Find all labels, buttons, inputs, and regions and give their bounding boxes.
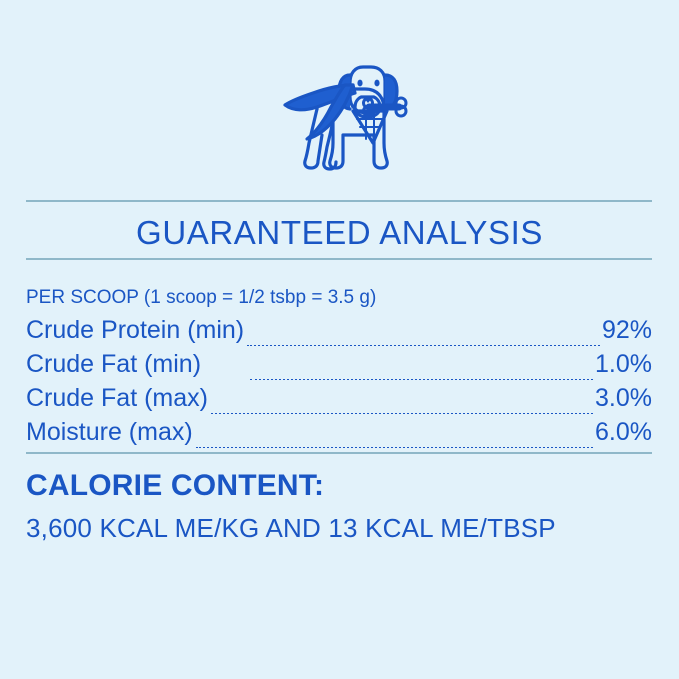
- dotted-leader: [250, 379, 593, 380]
- nutrient-row: Crude Fat (max) 3.0%: [26, 384, 652, 418]
- nutrient-name: Crude Protein (min): [26, 316, 244, 345]
- dotted-leader: [211, 413, 593, 414]
- dotted-leader: [247, 345, 600, 346]
- caped-dog-with-bone-icon: [265, 39, 415, 187]
- nutrient-value: 6.0%: [595, 418, 652, 447]
- nutrient-name: Crude Fat (max): [26, 384, 208, 413]
- nutrient-name: Crude Fat (min): [26, 350, 201, 379]
- nutrient-value: 3.0%: [595, 384, 652, 413]
- pet-food-label-panel: GUARANTEED ANALYSIS PER SCOOP (1 scoop =…: [0, 0, 679, 679]
- calorie-content-heading: CALORIE CONTENT:: [26, 467, 324, 505]
- nutrient-value: 1.0%: [595, 350, 652, 379]
- divider-above-calorie-content: [26, 452, 652, 454]
- nutrient-row: Moisture (max) 6.0%: [26, 418, 652, 452]
- guaranteed-analysis-list: Crude Protein (min) 92% Crude Fat (min) …: [26, 316, 652, 452]
- divider-above-title: [26, 200, 652, 202]
- nutrient-row: Crude Fat (min) 1.0%: [26, 350, 652, 384]
- calorie-content-value: 3,600 KCAL ME/KG AND 13 KCAL ME/TBSP: [26, 511, 556, 545]
- brand-logo: [0, 34, 679, 192]
- page-title: GUARANTEED ANALYSIS: [0, 212, 679, 254]
- divider-below-title: [26, 258, 652, 260]
- dotted-leader: [196, 447, 593, 448]
- serving-size-note: PER SCOOP (1 scoop = 1/2 tsbp = 3.5 g): [26, 286, 376, 310]
- nutrient-row: Crude Protein (min) 92%: [26, 316, 652, 350]
- nutrient-name: Moisture (max): [26, 418, 193, 447]
- nutrient-value: 92%: [602, 316, 652, 345]
